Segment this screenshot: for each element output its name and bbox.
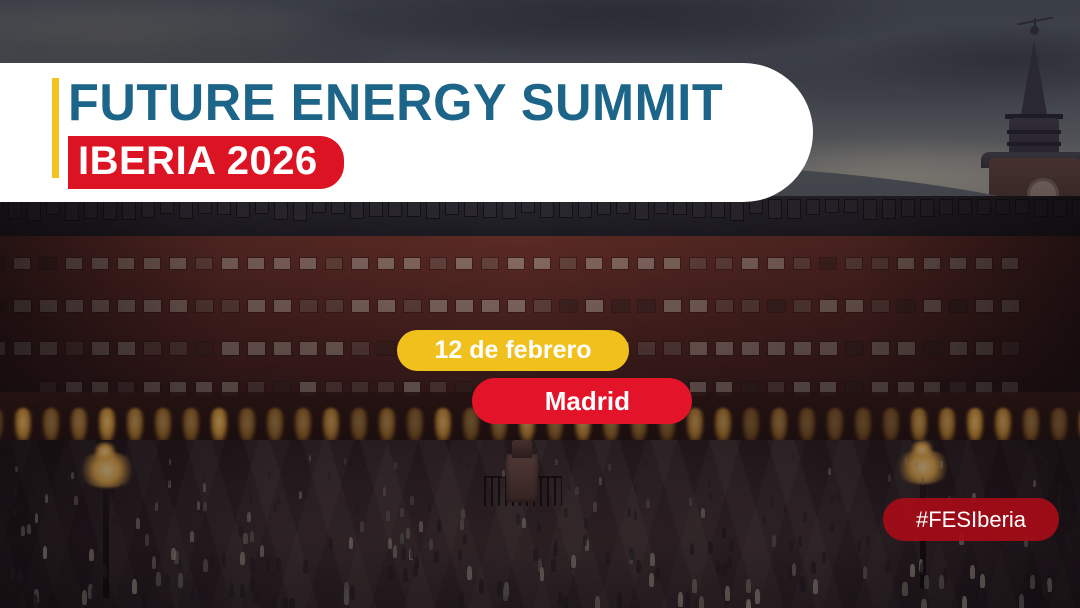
logo-panel: FUTURE ENERGY SUMMIT IBERIA 2026 (0, 63, 813, 202)
logo-accent-bar (52, 78, 59, 178)
event-date-badge: 12 de febrero (397, 330, 629, 371)
promo-banner: FUTURE ENERGY SUMMIT IBERIA 2026 12 de f… (0, 0, 1080, 608)
event-subtitle: IBERIA 2026 (68, 136, 344, 188)
logo: FUTURE ENERGY SUMMIT IBERIA 2026 (52, 76, 744, 188)
logo-text: FUTURE ENERGY SUMMIT IBERIA 2026 (68, 76, 744, 188)
event-hashtag-badge: #FESIberia (883, 498, 1059, 541)
event-title: FUTURE ENERGY SUMMIT (68, 76, 723, 130)
event-city-badge: Madrid (472, 378, 692, 424)
